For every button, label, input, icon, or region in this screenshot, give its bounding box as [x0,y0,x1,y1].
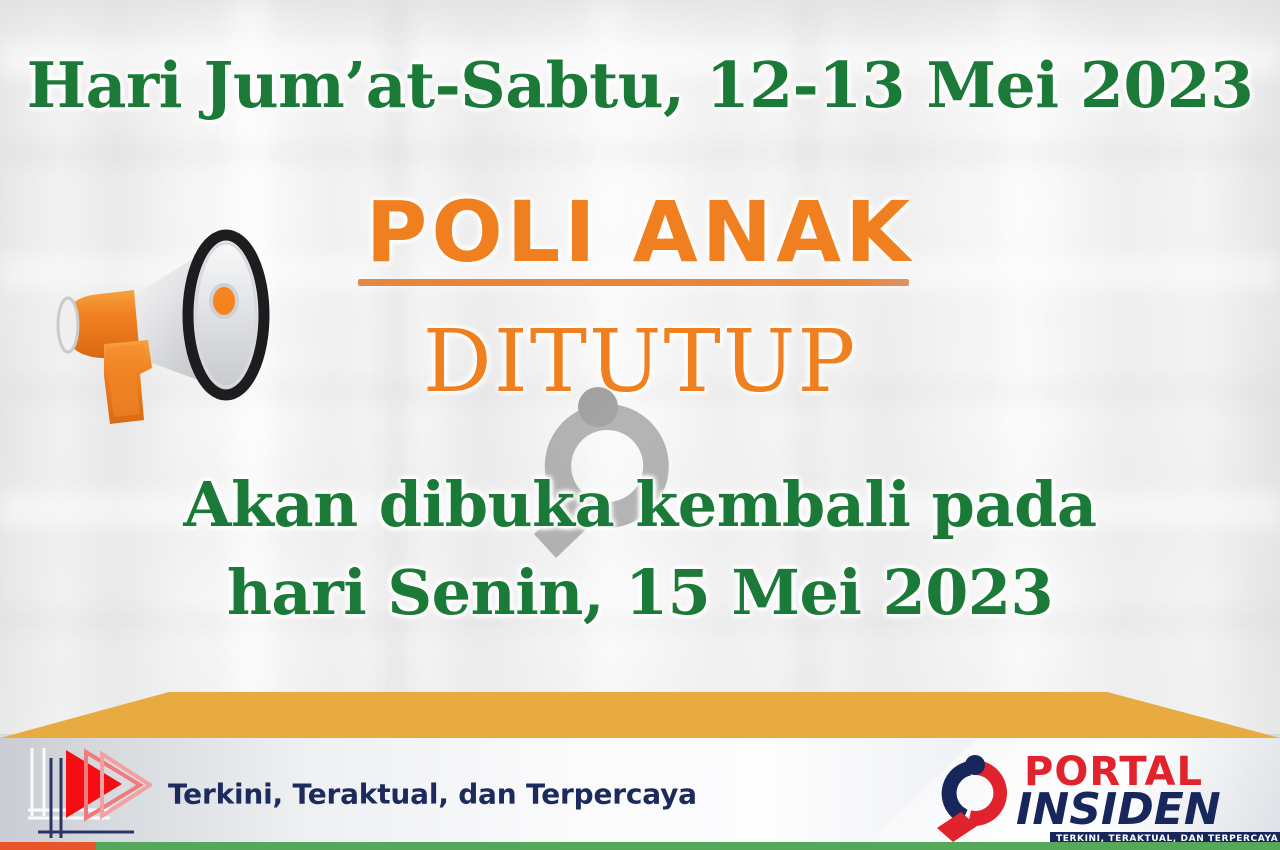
portal-insiden-logo-icon [928,750,1020,842]
bottom-stripe-orange [0,842,96,850]
reopen-line-2: hari Senin, 15 Mei 2023 [0,556,1280,629]
closed-subject: POLI ANAK [0,183,1280,281]
brand-word-insiden: INSIDEN [1016,788,1221,832]
amber-stage-banner [0,692,1280,738]
footer-tagline: Terkini, Teraktual, dan Terpercaya [168,778,697,811]
reopen-line-1: Akan dibuka kembali pada [0,468,1280,541]
brand-lockup: PORTAL INSIDEN TERKINI, TERAKTUAL, DAN T… [928,746,1228,846]
closed-subject-underline [358,279,909,286]
announcement-poster: Hari Jum’at-Sabtu, 12-13 Mei 2023 [0,0,1280,850]
headline-date: Hari Jum’at-Sabtu, 12-13 Mei 2023 [0,48,1280,122]
red-play-chevrons-icon [24,744,152,844]
bottom-stripe-green [0,842,1280,850]
footer-bar: Terkini, Teraktual, dan Terpercaya PORTA… [0,738,1280,850]
